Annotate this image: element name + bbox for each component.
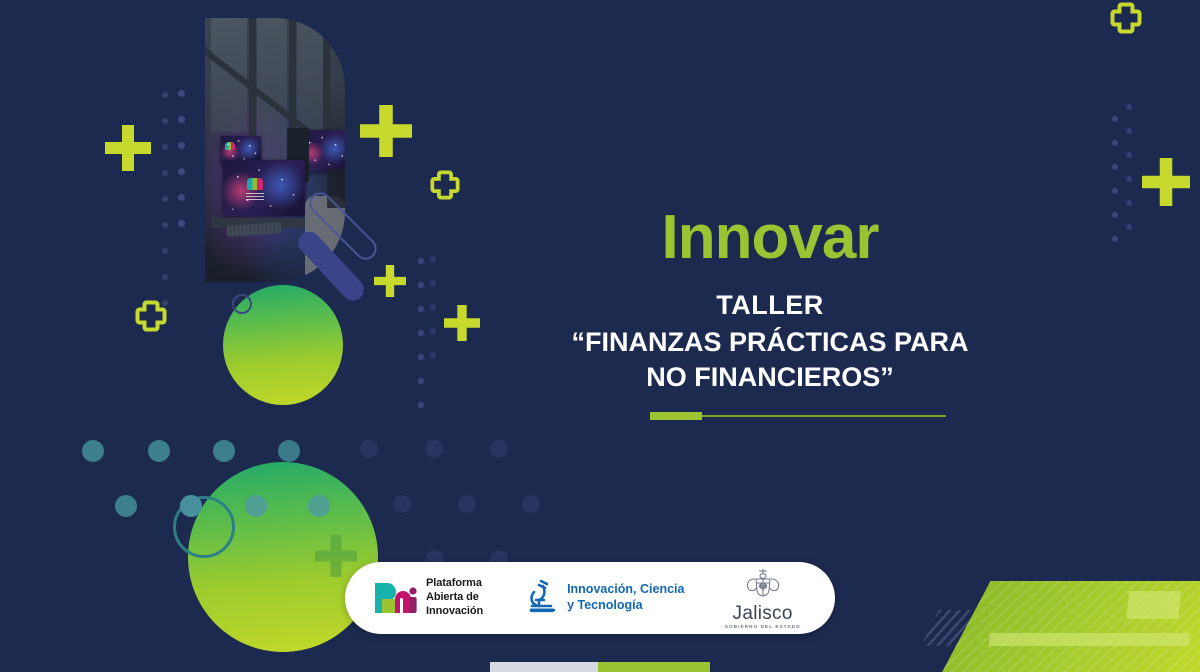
green-corner-accent [940,581,1200,672]
divider-thick-segment [650,412,702,420]
ict-logo-text: Innovación, Ciencia y Tecnología [567,582,684,613]
brand-title: Innovar [560,205,980,270]
hero-text-block: Innovar TALLER “FINANZAS PRÁCTICAS PARA … [560,205,980,394]
slide-canvas: Innovar TALLER “FINANZAS PRÁCTICAS PARA … [0,0,1200,672]
corner-band [989,633,1190,646]
corner-band [1127,591,1181,619]
teal-dot-overlay [180,495,202,517]
plus-outline-icon [135,300,167,332]
bottom-progress-strip [490,662,710,672]
plus-outline-icon [430,170,460,200]
workshop-title-line1: “FINANZAS PRÁCTICAS PARA [572,327,969,357]
pai-line-2: Abierta de [426,591,483,605]
plus-solid-icon [315,535,357,577]
pai-line-3: Innovación [426,605,483,619]
workshop-title: “FINANZAS PRÁCTICAS PARA NO FINANCIEROS” [560,325,980,394]
logo-plataforma-abierta-innovacion: Plataforma Abierta de Innovación [373,577,483,618]
logo-innovacion-ciencia-tecnologia: Innovación, Ciencia y Tecnología [527,578,684,619]
ict-line-1: Innovación, Ciencia [567,582,684,598]
pai-logo-icon [373,581,417,615]
teal-ring-small [232,294,252,314]
plus-solid-icon [374,265,406,297]
plus-solid-icon [360,105,412,157]
divider-thin-segment [702,415,946,417]
bottom-strip-segment-a [490,662,598,672]
pai-logo-text: Plataforma Abierta de Innovación [426,577,483,618]
microscope-icon [527,578,557,619]
jalisco-wordmark: Jalisco [733,604,793,623]
plus-solid-icon [1142,158,1190,206]
ict-line-2: y Tecnología [567,598,684,614]
pai-line-1: Plataforma [426,577,483,591]
kicker-label: TALLER [560,290,980,321]
partner-logo-bar: Plataforma Abierta de Innovación [345,562,835,634]
plus-solid-icon [444,305,480,341]
title-divider [650,412,946,420]
plus-solid-icon [105,125,151,171]
plus-outline-icon [1110,2,1142,34]
logo-jalisco: Jalisco GOBIERNO DEL ESTADO [724,568,800,629]
teal-dot-overlay [308,495,330,517]
teal-dot-overlay [245,495,267,517]
jalisco-subtitle: GOBIERNO DEL ESTADO [724,624,800,629]
jalisco-coat-of-arms-icon [743,568,783,603]
workshop-title-line2: NO FINANCIEROS” [646,362,894,392]
bottom-strip-segment-b [598,662,710,672]
